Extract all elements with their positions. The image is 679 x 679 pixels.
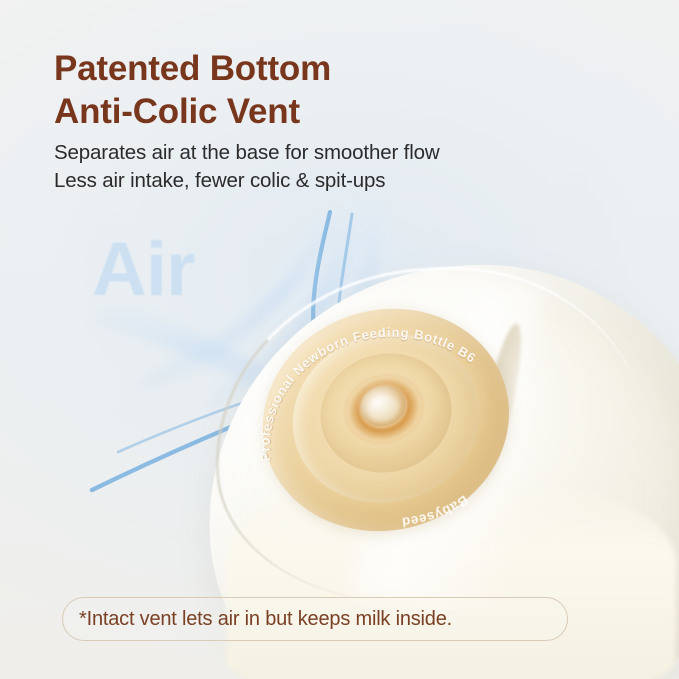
bottle-rim-highlight	[203, 253, 658, 615]
anti-colic-vent-disc	[236, 280, 535, 560]
page-title: Patented Bottom Anti-Colic Vent	[54, 48, 614, 133]
air-inbound-arrowheads	[305, 350, 331, 392]
bottle-seam-crease	[471, 321, 530, 483]
vent-center-hole	[355, 380, 411, 432]
vent-embossed-bottom-text: Babyseed	[401, 492, 471, 529]
vent-embossed-label-group: Professional Newborn Feeding Bottle B6 B…	[250, 300, 530, 550]
air-outbound-arrowheads	[452, 458, 510, 532]
bottle-milk-shading	[226, 470, 676, 679]
vent-torus	[334, 363, 434, 455]
bottle-specular-highlight	[350, 267, 544, 615]
product-feature-card: Air	[0, 0, 679, 679]
air-outbound-curves	[386, 428, 498, 516]
subtitle-line-2: Less air intake, fewer colic & spit-ups	[54, 171, 614, 192]
subtitle-line-1: Separates air at the base for smoother f…	[54, 143, 614, 164]
vent-ring-core	[306, 338, 465, 488]
vent-embossed-top-text: Professional Newborn Feeding Bottle B6	[258, 325, 479, 462]
vent-ring-inner	[272, 311, 499, 524]
footnote-text: *Intact vent lets air in but keeps milk …	[79, 608, 452, 631]
air-watermark-text: Air	[92, 226, 195, 313]
footnote-pill: *Intact vent lets air in but keeps milk …	[62, 597, 568, 641]
svg-text:Babyseed: Babyseed	[401, 492, 471, 529]
svg-text:Professional Newborn Feeding B: Professional Newborn Feeding Bottle B6	[258, 325, 479, 462]
